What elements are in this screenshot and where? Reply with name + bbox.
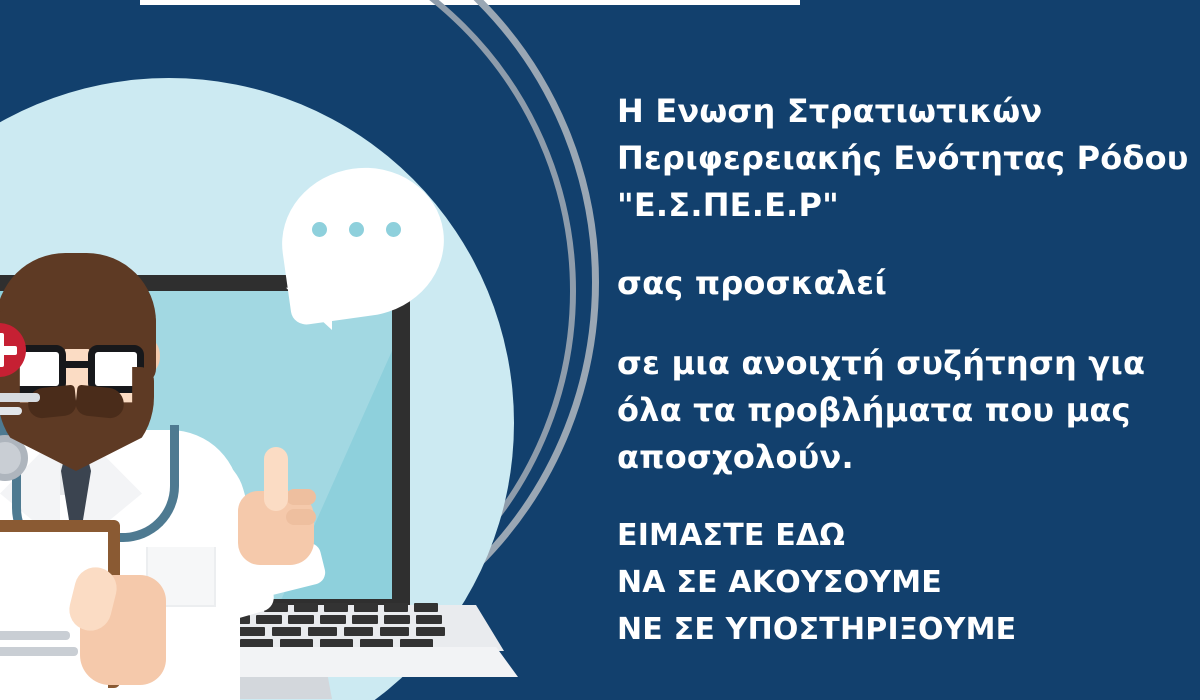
mustache-left — [27, 385, 78, 420]
clipboard-text-line — [0, 407, 22, 415]
slogan-block: ΕΙΜΑΣΤΕ ΕΔΩ ΝΑ ΣΕ ΑΚΟΥΣΟΥΜΕ ΝΕ ΣΕ ΥΠΟΣΤΗ… — [617, 512, 1016, 653]
slogan-line: ΝΑ ΣΕ ΑΚΟΥΣΟΥΜΕ — [617, 559, 1016, 606]
doctor-mustache — [28, 387, 124, 417]
organization-title: Η Ενωση Στρατιωτικών Περιφερειακής Ενότη… — [617, 88, 1189, 229]
title-line: Η Ενωση Στρατιωτικών — [617, 88, 1189, 135]
doctor-figure: ✔ — [0, 275, 470, 700]
invitation-body: σε μια ανοιχτή συζήτηση για όλα τα προβλ… — [617, 340, 1145, 481]
title-line: Περιφερειακής Ενότητας Ρόδου — [617, 135, 1189, 182]
clipboard-text-line — [0, 647, 78, 656]
pointing-hand-icon — [228, 447, 326, 569]
bubble-dot — [312, 222, 327, 237]
slogan-line: ΝΕ ΣΕ ΥΠΟΣΤΗΡΙΞΟΥΜΕ — [617, 606, 1016, 653]
index-finger — [264, 447, 288, 511]
body-line: αποσχολούν. — [617, 434, 1145, 481]
hand-knuckle — [286, 509, 316, 525]
body-line: σε μια ανοιχτή συζήτηση για — [617, 340, 1145, 387]
glasses-bridge — [64, 361, 92, 368]
clipboard-text-line — [0, 631, 70, 640]
medical-cross-horizontal — [0, 346, 17, 355]
bubble-dot — [349, 222, 364, 237]
hand-knuckle — [286, 489, 316, 505]
invitation-line: σας προσκαλεί — [617, 260, 887, 307]
poster-canvas: ✔ Η Ενωση Στρατιωτικών Περιφερειακής Ενό… — [0, 0, 1200, 700]
body-line: όλα τα προβλήματα που μας — [617, 387, 1145, 434]
mustache-right — [75, 385, 126, 420]
text-column: Η Ενωση Στρατιωτικών Περιφερειακής Ενότη… — [617, 0, 1157, 700]
slogan-line: ΕΙΜΑΣΤΕ ΕΔΩ — [617, 512, 1016, 559]
clipboard-text-line — [0, 393, 40, 402]
bubble-dot — [386, 222, 401, 237]
title-line: "Ε.Σ.ΠΕ.Ε.Ρ" — [617, 182, 1189, 229]
invitation-text: σας προσκαλεί — [617, 260, 887, 307]
speech-bubble-dots — [312, 222, 401, 237]
doctor-mouth — [56, 419, 96, 429]
